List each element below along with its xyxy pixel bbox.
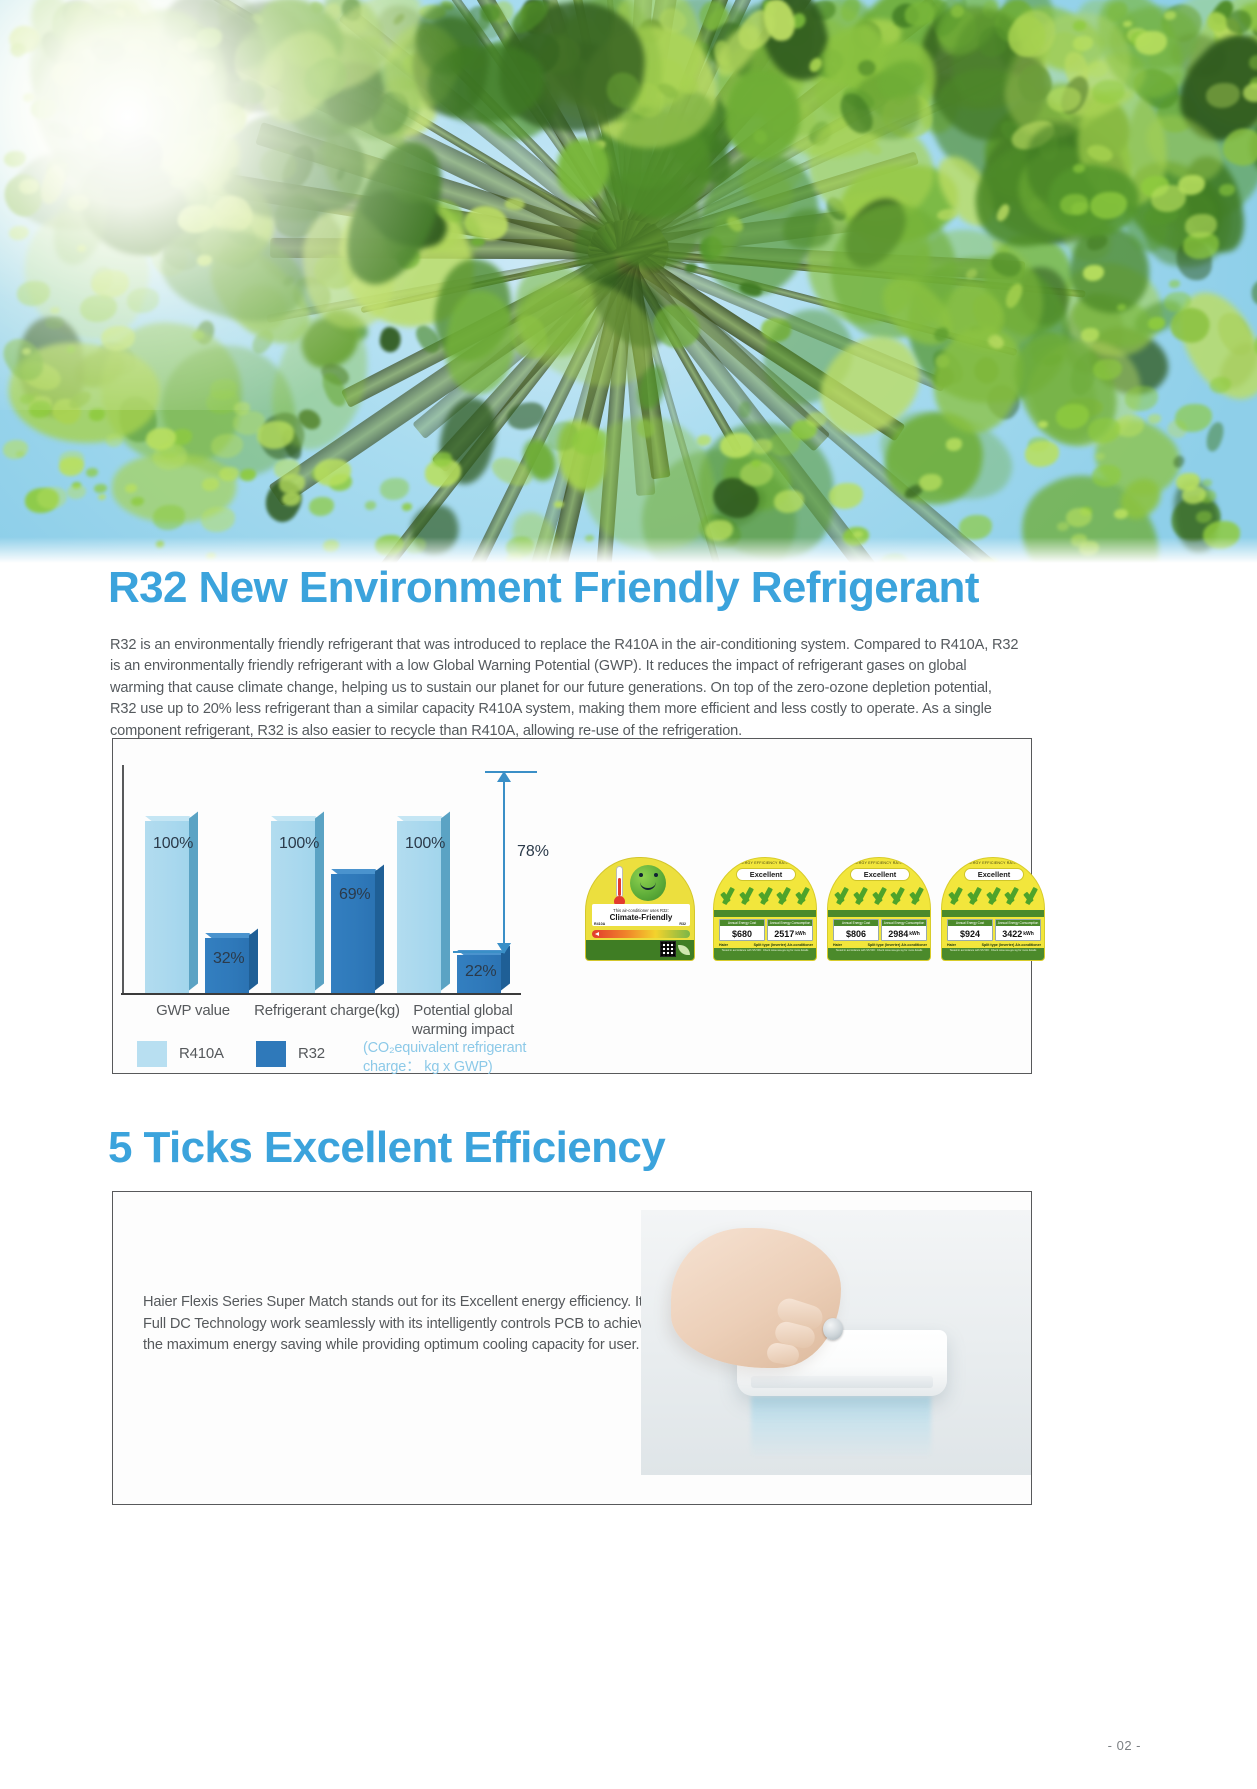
rating-badge: Excellent [850, 868, 910, 881]
check-icon [910, 886, 925, 906]
cost-value: $680 [720, 926, 764, 941]
coin-icon [823, 1318, 843, 1340]
hand-illustration [671, 1228, 841, 1368]
category-label-charge: Refrigerant charge(kg) [253, 1001, 401, 1020]
category-label-impact-line1: Potential global [401, 1001, 525, 1020]
check-icon [835, 886, 850, 906]
annual-energy-cost-box: Annual Energy Cost $924 [947, 919, 993, 941]
climate-friendly-label: This air-conditioner uses R32: Climate-F… [585, 857, 695, 961]
consumption-value: 3422kWh [996, 926, 1040, 941]
efficiency-paragraph: Haier Flexis Series Super Match stands o… [143, 1292, 663, 1357]
card-footnote: Tested in accordance with SS 530 : Check… [942, 948, 1044, 960]
hero-forest-image [0, 0, 1257, 563]
bar-r410a-gwp: 100% [145, 821, 189, 993]
check-icon [796, 886, 811, 906]
energy-label-card: ENERGY EFFICIENCY RATING Excellent Annua… [941, 857, 1045, 961]
value-boxes: Annual Energy Cost $924 Annual Energy Co… [947, 919, 1041, 941]
page-number: - 02 - [1108, 1738, 1141, 1753]
smiley-eye-right-icon [654, 873, 658, 877]
check-icon [949, 886, 964, 906]
bar-value-label: 32% [213, 950, 244, 968]
divider-bar [714, 910, 816, 917]
smiley-eye-left-icon [639, 873, 643, 877]
check-icon [721, 886, 736, 906]
qr-code-icon [660, 941, 676, 957]
bar-value-label: 100% [279, 835, 319, 853]
climate-title: Climate-Friendly [610, 913, 673, 922]
value-boxes: Annual Energy Cost $806 Annual Energy Co… [833, 919, 927, 941]
hero-bottom-fade [0, 537, 1257, 563]
tick-rating-icons [721, 886, 811, 908]
check-icon [1005, 886, 1020, 906]
tick-rating-icons [949, 886, 1039, 908]
annual-energy-consumption-box: Annual Energy Consumption 2517kWh [767, 919, 813, 941]
tick-rating-icons [835, 886, 925, 908]
card-footnote: Tested in accordance with SS 530 : Check… [714, 948, 816, 960]
card-footnote: Tested in accordance with SS 530 : Check… [828, 948, 930, 960]
consumption-value: 2984kWh [882, 926, 926, 941]
annual-energy-consumption-box: Annual Energy Consumption 3422kWh [995, 919, 1041, 941]
rating-caption: ENERGY EFFICIENCY RATING [942, 861, 1044, 865]
climate-footer-bar [586, 940, 694, 960]
annotation-tick-top [485, 771, 537, 773]
bar-chart: 100% 32% 100% 69% 100% 22% [113, 739, 583, 1075]
bar-value-label: 100% [153, 835, 193, 853]
legend-label-r32: R32 [298, 1045, 325, 1062]
energy-labels-row: This air-conditioner uses R32: Climate-F… [585, 857, 1031, 967]
page-title-r32: R32 New Environment Friendly Refrigerant [108, 563, 979, 613]
annotation-line [503, 773, 505, 953]
reduction-annotation: 78% [481, 765, 601, 997]
climate-left-code: R410A [594, 922, 605, 926]
check-icon [873, 886, 888, 906]
annotation-value: 78% [517, 843, 549, 861]
bar-r32-gwp: 32% [205, 938, 249, 993]
page-title-ticks: 5 Ticks Excellent Efficiency [108, 1123, 665, 1173]
intro-paragraph: R32 is an environmentally friendly refri… [110, 635, 1020, 742]
rating-caption: ENERGY EFFICIENCY RATING [828, 861, 930, 865]
annual-energy-cost-box: Annual Energy Cost $680 [719, 919, 765, 941]
category-label-gwp: GWP value [133, 1001, 253, 1020]
chart-baseline [121, 993, 521, 995]
legend-note-line1: (CO₂equivalent refrigerant [363, 1039, 526, 1058]
annual-energy-consumption-box: Annual Energy Consumption 2984kWh [881, 919, 927, 941]
rating-badge: Excellent [736, 868, 796, 881]
thermometer-icon [616, 866, 623, 898]
rating-badge: Excellent [964, 868, 1024, 881]
arrow-up-icon [497, 771, 511, 782]
check-icon [968, 886, 983, 906]
cost-value: $924 [948, 926, 992, 941]
check-icon [987, 886, 1002, 906]
climate-title-box: This air-conditioner uses R32: Climate-F… [592, 904, 690, 926]
arrow-down-icon [497, 943, 511, 954]
cost-value: $806 [834, 926, 878, 941]
bar-r32-charge: 69% [331, 874, 375, 993]
value-boxes: Annual Energy Cost $680 Annual Energy Co… [719, 919, 813, 941]
climate-right-code: R32 [679, 922, 686, 926]
legend-label-r410a: R410A [179, 1045, 224, 1062]
check-icon [759, 886, 774, 906]
legend-swatch-r410a [137, 1041, 167, 1067]
legend-note-line2: charge： kg x GWP) [363, 1058, 493, 1077]
category-label-impact-line2: warming impact [401, 1020, 525, 1039]
check-icon [740, 886, 755, 906]
legend-swatch-r32 [256, 1041, 286, 1067]
gwp-scale-bar [592, 930, 690, 938]
check-icon [854, 886, 869, 906]
check-icon [891, 886, 906, 906]
tree-canopy [0, 0, 1257, 563]
check-icon [1024, 886, 1039, 906]
r32-comparison-panel: 100% 32% 100% 69% 100% 22% [112, 738, 1032, 1074]
ac-unit-photo [641, 1210, 1031, 1475]
divider-bar [828, 910, 930, 917]
check-icon [777, 886, 792, 906]
bar-r410a-charge: 100% [271, 821, 315, 993]
annual-energy-cost-box: Annual Energy Cost $806 [833, 919, 879, 941]
rating-caption: ENERGY EFFICIENCY RATING [714, 861, 816, 865]
bar-value-label: 100% [405, 835, 445, 853]
chart-y-axis [122, 765, 124, 995]
bar-r410a-impact: 100% [397, 821, 441, 993]
consumption-value: 2517kWh [768, 926, 812, 941]
efficiency-panel: Haier Flexis Series Super Match stands o… [112, 1191, 1032, 1505]
cool-air-flow [751, 1396, 931, 1456]
divider-bar [942, 910, 1044, 917]
energy-label-card: ENERGY EFFICIENCY RATING Excellent Annua… [827, 857, 931, 961]
bar-value-label: 69% [339, 886, 370, 904]
energy-label-card: ENERGY EFFICIENCY RATING Excellent Annua… [713, 857, 817, 961]
